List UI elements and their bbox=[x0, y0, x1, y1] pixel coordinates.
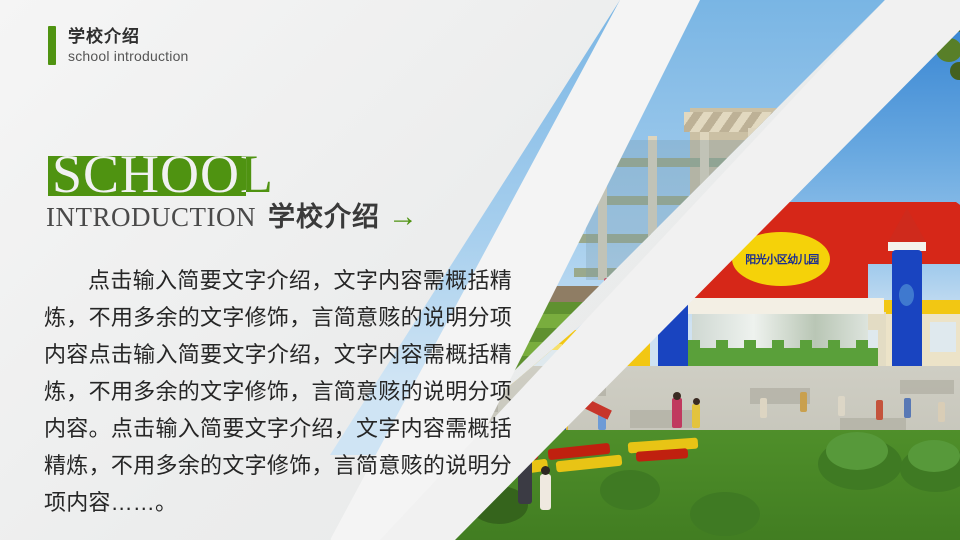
tower-ring bbox=[654, 242, 692, 251]
person-figure bbox=[800, 392, 807, 412]
tower-ring bbox=[888, 242, 926, 251]
building-wing-right bbox=[880, 300, 960, 420]
gate-glass-facade bbox=[692, 314, 868, 358]
school-word-knockout-mask: SCHOOL bbox=[52, 148, 246, 196]
person-figure bbox=[672, 398, 682, 428]
slide-canvas: 阳光小区幼儿园 bbox=[0, 0, 960, 540]
person-figure bbox=[692, 404, 700, 428]
fence-crenel bbox=[856, 340, 868, 349]
tower-right bbox=[892, 250, 922, 378]
person-figure bbox=[560, 414, 568, 436]
playground-slide bbox=[566, 390, 612, 419]
building-wing-left bbox=[500, 330, 650, 440]
window bbox=[930, 322, 956, 352]
header-accent-bar bbox=[48, 26, 56, 65]
fence-crenel bbox=[772, 340, 784, 349]
balcony-slab bbox=[582, 196, 768, 205]
gate-gable-body bbox=[692, 264, 868, 298]
balcony-slab bbox=[578, 234, 770, 243]
bush bbox=[600, 470, 660, 510]
lawn-stripe bbox=[494, 300, 806, 314]
window bbox=[582, 348, 624, 396]
plaza-tile bbox=[700, 452, 770, 472]
tree-foliage-icon bbox=[928, 0, 960, 32]
fence-crenel bbox=[688, 340, 700, 349]
adult-figure bbox=[518, 452, 532, 504]
window bbox=[892, 322, 918, 352]
plaza-tile bbox=[900, 380, 954, 394]
kindergarten-sign-text: 阳光小区幼儿园 bbox=[736, 248, 828, 270]
flower-bed-yellow bbox=[628, 438, 699, 454]
header-text-group: 学校介绍 school introduction bbox=[68, 26, 189, 65]
building-glass bbox=[586, 140, 766, 280]
child-figure bbox=[540, 474, 551, 510]
fence-crenel bbox=[744, 340, 756, 349]
balcony-slab bbox=[574, 268, 770, 277]
courtyard-path bbox=[520, 286, 780, 302]
bush bbox=[690, 492, 760, 536]
gate-band bbox=[676, 298, 884, 314]
header-title-en: school introduction bbox=[68, 47, 189, 65]
gate-gable-roof bbox=[692, 202, 960, 264]
title-lockup: SCHOOL SCHOOL INTRODUCTION 学校介绍 → bbox=[46, 152, 476, 232]
person-figure bbox=[673, 392, 681, 400]
body-paragraph: 点击输入简要文字介绍，文字内容需概括精炼，不用多余的文字修饰，言简意赅的说明分项… bbox=[44, 262, 512, 521]
person-figure bbox=[693, 398, 700, 405]
school-wordmark: SCHOOL SCHOOL bbox=[46, 152, 476, 200]
bush bbox=[900, 446, 960, 492]
window bbox=[838, 330, 856, 356]
person-figure bbox=[660, 280, 666, 294]
bush bbox=[826, 432, 888, 470]
person-figure bbox=[676, 282, 681, 294]
fence-crenel bbox=[716, 340, 728, 349]
lawn-stripe bbox=[474, 328, 786, 342]
tower-porthole bbox=[665, 284, 680, 306]
playground-slide-post bbox=[560, 396, 566, 432]
building-wing-left-base bbox=[500, 420, 650, 446]
person-figure bbox=[598, 410, 606, 430]
plaza-tile bbox=[520, 440, 584, 458]
sun-emblem-icon bbox=[732, 232, 830, 286]
building-column bbox=[648, 136, 657, 282]
plaza-tile bbox=[550, 382, 606, 396]
building-column bbox=[748, 128, 757, 282]
building-column bbox=[700, 132, 709, 282]
plaza-tile bbox=[630, 410, 692, 428]
person-figure bbox=[616, 282, 621, 294]
kindergarten-gate: 阳光小区幼儿园 bbox=[640, 188, 960, 388]
tree-foliage-icon bbox=[950, 62, 960, 80]
person-figure bbox=[604, 278, 610, 294]
balcony-slab bbox=[586, 158, 766, 167]
sawtooth-roof bbox=[684, 112, 780, 132]
flower-bed-yellow bbox=[556, 455, 623, 473]
green-fence bbox=[682, 348, 878, 376]
fence-crenel bbox=[828, 340, 840, 349]
school-building-mass bbox=[690, 108, 810, 288]
tower-porthole bbox=[899, 284, 914, 306]
adult-head bbox=[520, 442, 531, 453]
person-figure bbox=[938, 402, 945, 422]
building-wing-right-accent bbox=[880, 300, 960, 314]
person-figure bbox=[876, 400, 883, 420]
window-frame bbox=[512, 344, 562, 350]
introduction-word: INTRODUCTION bbox=[46, 202, 256, 232]
person-figure bbox=[760, 398, 767, 418]
tree-foliage-icon bbox=[936, 38, 960, 62]
building-column bbox=[598, 140, 607, 280]
subtitle-row: INTRODUCTION 学校介绍 → bbox=[46, 202, 476, 232]
bush bbox=[818, 438, 902, 490]
header-title-cn: 学校介绍 bbox=[68, 26, 189, 47]
window bbox=[862, 330, 878, 356]
tower-cone-roof bbox=[654, 208, 692, 242]
child-head bbox=[541, 466, 550, 475]
flower-bed-red bbox=[548, 443, 611, 460]
person-figure bbox=[838, 396, 845, 416]
tower-cone-roof bbox=[888, 208, 926, 242]
subtitle-cn: 学校介绍 bbox=[268, 202, 380, 232]
person-figure bbox=[904, 398, 911, 418]
lawn-stripe bbox=[484, 314, 796, 328]
tower-left bbox=[658, 250, 688, 378]
fence-crenel bbox=[800, 340, 812, 349]
bush bbox=[908, 440, 960, 472]
plaza-tile bbox=[840, 418, 906, 436]
flower-bed-red bbox=[636, 448, 689, 462]
school-word-knockout: SCHOOL bbox=[52, 148, 246, 196]
window bbox=[516, 348, 558, 396]
school-building-side bbox=[756, 122, 816, 288]
building-wing-mid bbox=[828, 312, 886, 416]
tree-foliage-icon bbox=[912, 16, 942, 42]
slide-header: 学校介绍 school introduction bbox=[48, 26, 189, 65]
plaza-tile bbox=[750, 388, 810, 404]
arrow-right-icon: → bbox=[388, 202, 418, 232]
